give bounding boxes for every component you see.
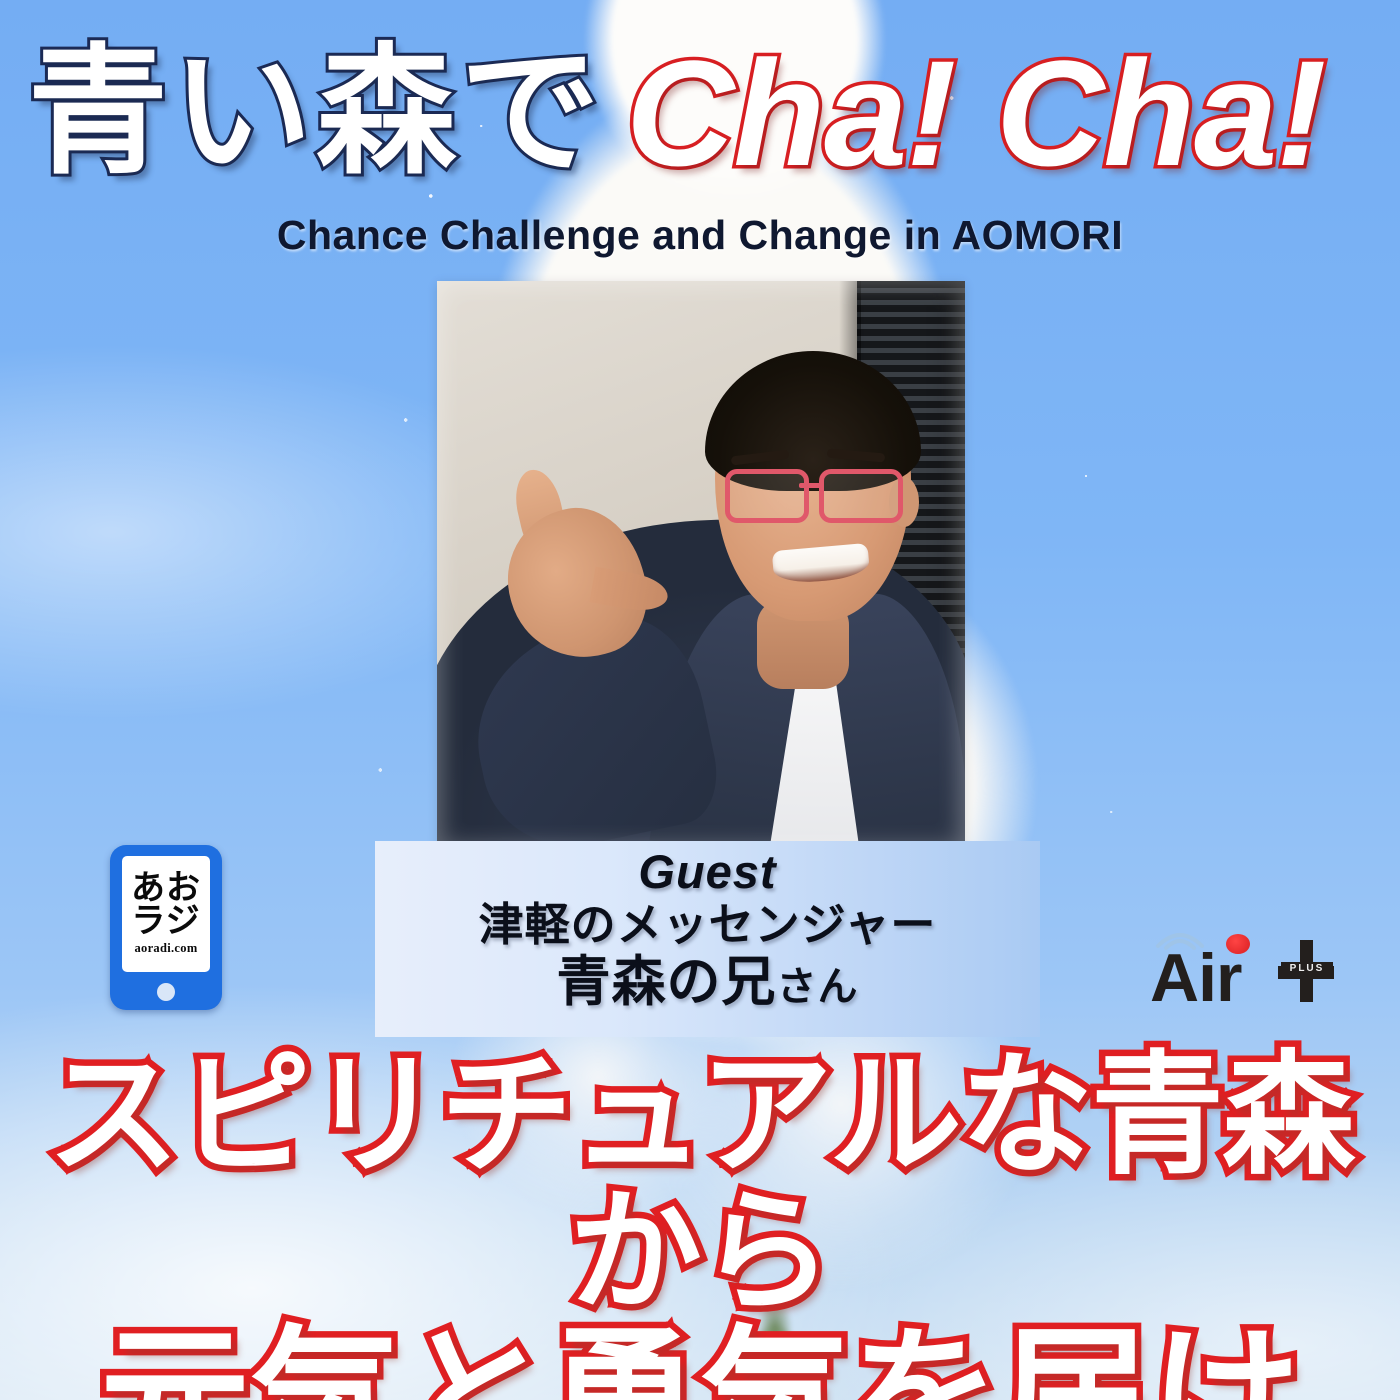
air-plus-wordmark: Air — [1150, 944, 1241, 1012]
title-japanese: 青い森で — [28, 43, 604, 183]
aoradi-logo-line1: あお — [131, 872, 201, 905]
photo-soft-edge — [437, 281, 965, 851]
title-english: Cha! Cha! — [626, 38, 1325, 188]
headline-block: スピリチュアルな青森から 元気と勇気を届ける！ — [0, 1048, 1400, 1400]
subtitle: Chance Challenge and Change in AOMORI — [0, 212, 1400, 259]
caption-guest-title: 津軽のメッセンジャー — [479, 900, 937, 950]
air-plus-logo[interactable]: Air PLUS — [1150, 918, 1340, 1022]
air-plus-sub-label: PLUS — [1281, 962, 1333, 975]
aoradi-logo[interactable]: あお ラジ aoradi.com — [110, 845, 222, 1010]
aoradi-logo-url: aoradi.com — [134, 941, 197, 956]
podcast-cover-art: 青い森で Cha! Cha! Chance Challenge and Chan… — [0, 0, 1400, 1400]
caption-guest-name-main: 青森の兄 — [557, 950, 777, 1013]
title-row: 青い森で Cha! Cha! — [0, 28, 1400, 198]
aoradi-logo-screen: あお ラジ aoradi.com — [122, 856, 210, 972]
guest-caption-band: Guest 津軽のメッセンジャー 青森の兄さん — [375, 841, 1040, 1037]
guest-photo — [437, 281, 965, 851]
caption-guest-name: 青森の兄さん — [557, 952, 859, 1011]
headline-line-1: スピリチュアルな青森から — [0, 1048, 1400, 1322]
caption-guest-name-suffix: さん — [777, 964, 859, 1010]
aoradi-logo-home-button — [157, 983, 175, 1001]
headline-line-2: 元気と勇気を届ける！ — [0, 1322, 1400, 1400]
aoradi-logo-line2: ラジ — [131, 905, 200, 938]
caption-guest-label: Guest — [638, 847, 776, 898]
